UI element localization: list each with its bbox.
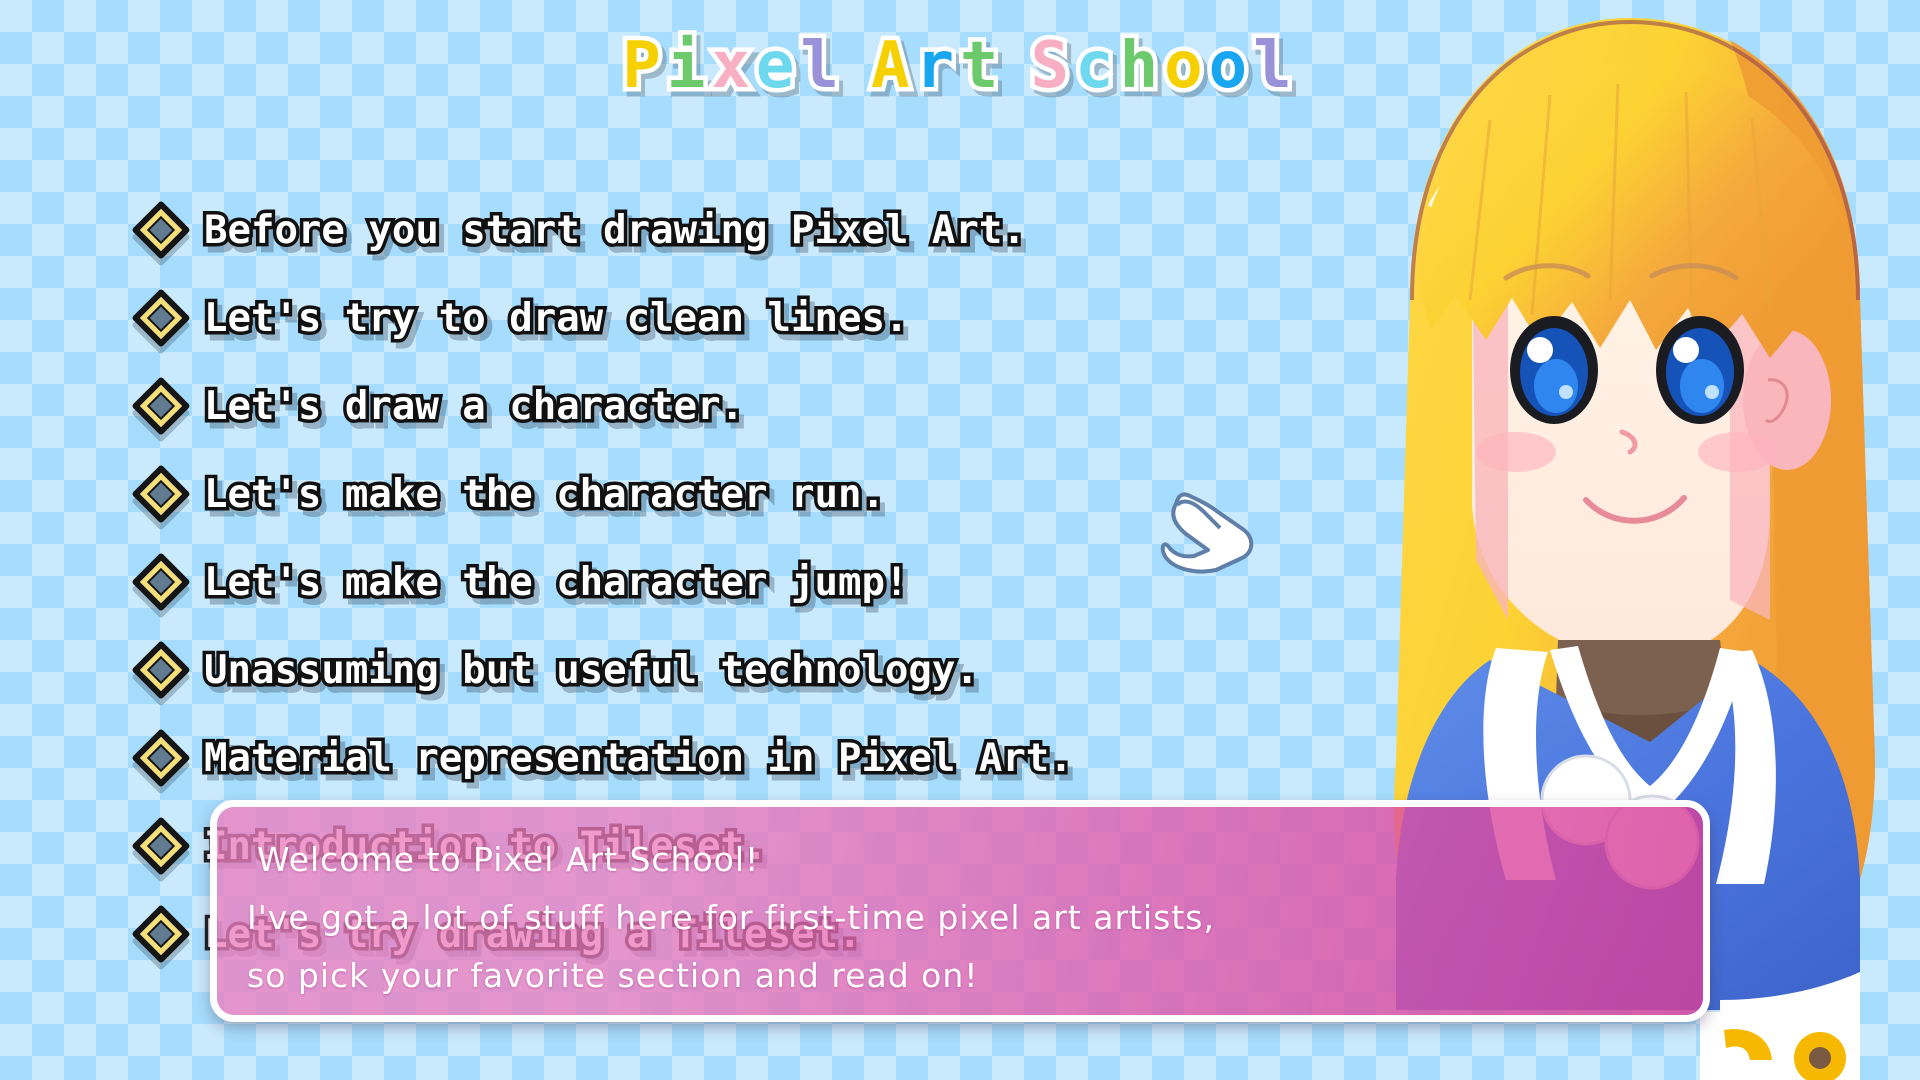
menu-item-label: Let's make the character jump! — [204, 563, 908, 602]
title-letter-1: i — [667, 34, 712, 98]
welcome-dialog-box[interactable]: Welcome to Pixel Art School!I've got a l… — [210, 800, 1710, 1022]
dialog-line-1: I've got a lot of stuff here for first-t… — [247, 889, 1673, 947]
title-letter-14: o — [1209, 34, 1254, 98]
page-title: PixelArtSchool — [0, 34, 1920, 98]
title-letter-10: S — [1031, 34, 1076, 98]
diamond-bullet-icon — [131, 816, 190, 875]
title-letter-3: e — [756, 34, 801, 98]
menu-item-2[interactable]: Let's draw a character. — [140, 362, 1073, 450]
diamond-bullet-icon — [131, 376, 190, 435]
diamond-bullet-icon — [131, 464, 190, 523]
diamond-bullet-icon — [131, 288, 190, 347]
dialog-line-0: Welcome to Pixel Art School! — [257, 831, 1673, 889]
menu-item-3[interactable]: Let's make the character run. — [140, 450, 1073, 538]
title-letter-15: l — [1253, 34, 1298, 98]
diamond-bullet-icon — [131, 200, 190, 259]
pixel-art-school-screen: PixelArtSchool — [0, 0, 1920, 1080]
menu-item-1[interactable]: Let's try to draw clean lines. — [140, 274, 1073, 362]
menu-item-label: Unassuming but useful technology. — [204, 651, 979, 690]
title-letter-6: A — [871, 34, 916, 98]
diamond-bullet-icon — [131, 640, 190, 699]
diamond-bullet-icon — [131, 728, 190, 787]
title-letter-4: l — [800, 34, 845, 98]
pointing-hand-cursor-icon[interactable] — [1150, 478, 1265, 588]
diamond-bullet-icon — [131, 904, 190, 963]
title-letter-2: x — [711, 34, 756, 98]
menu-item-label: Let's try to draw clean lines. — [204, 299, 908, 338]
menu-item-6[interactable]: Material representation in Pixel Art. — [140, 714, 1073, 802]
diamond-bullet-icon — [131, 552, 190, 611]
menu-item-label: Let's draw a character. — [204, 387, 744, 426]
menu-item-4[interactable]: Let's make the character jump! — [140, 538, 1073, 626]
menu-item-label: Before you start drawing Pixel Art. — [204, 211, 1026, 250]
menu-item-0[interactable]: Before you start drawing Pixel Art. — [140, 186, 1073, 274]
title-letter-12: h — [1120, 34, 1165, 98]
dialog-line-2: so pick your favorite section and read o… — [247, 947, 1673, 1005]
menu-item-5[interactable]: Unassuming but useful technology. — [140, 626, 1073, 714]
title-letter-7: r — [915, 34, 960, 98]
title-letter-11: c — [1075, 34, 1120, 98]
menu-item-label: Let's make the character run. — [204, 475, 885, 514]
title-letter-0: P — [622, 34, 667, 98]
menu-item-label: Material representation in Pixel Art. — [204, 739, 1073, 778]
title-letter-8: t — [960, 34, 1005, 98]
title-letter-13: o — [1164, 34, 1209, 98]
